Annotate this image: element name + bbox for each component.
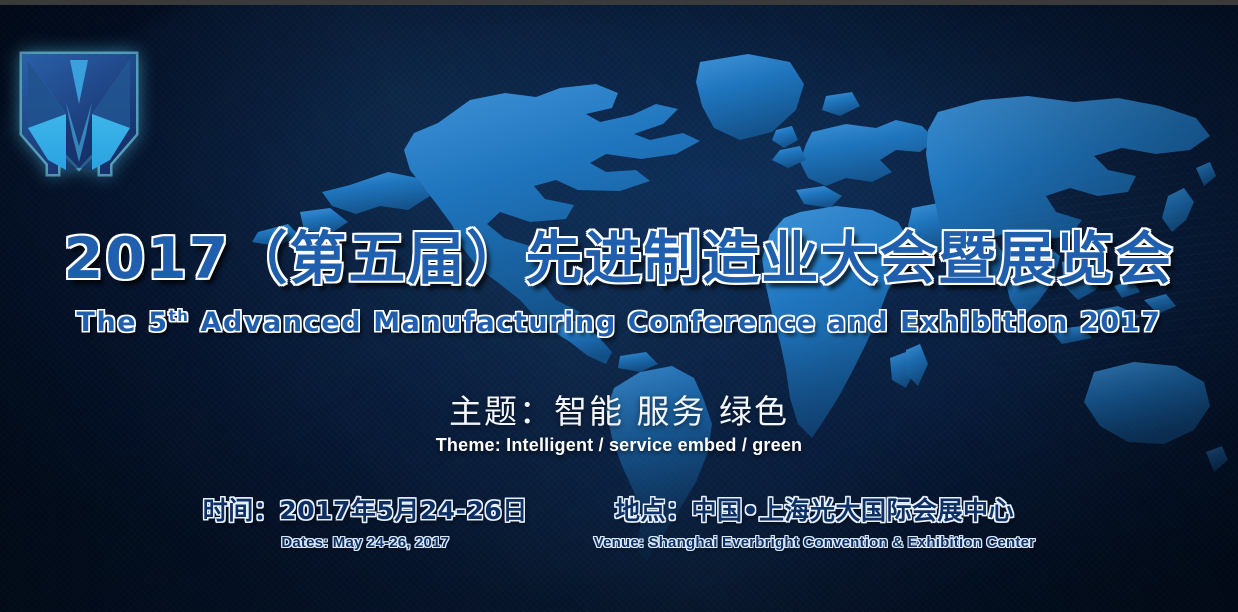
conference-banner: 2017（第五届）先进制造业大会暨展览会 The 5th Advanced Ma… (0, 0, 1238, 612)
date-label-chinese: 时间：2017年5月24-26日 (203, 497, 528, 526)
date-label-english: Dates: May 24-26, 2017 (203, 534, 528, 551)
venue-label-english: Venue: Shanghai Everbright Convention & … (594, 534, 1035, 551)
venue-label-chinese: 地点：中国•上海光大国际会展中心 (594, 497, 1035, 526)
theme-line-chinese: 主题：智能 服务 绿色 (0, 385, 1238, 433)
main-title-chinese: 2017（第五届）先进制造业大会暨展览会 (0, 231, 1238, 288)
main-title-english-rest: Advanced Manufacturing Conference and Ex… (189, 307, 1161, 338)
theme-line-english: Theme: Intelligent / service embed / gre… (0, 435, 1238, 456)
ordinal-suffix: th (169, 307, 190, 325)
main-title-english: The 5th Advanced Manufacturing Conferenc… (0, 308, 1238, 338)
banner-text-content: 2017（第五届）先进制造业大会暨展览会 The 5th Advanced Ma… (0, 0, 1238, 612)
date-block: 时间：2017年5月24-26日 Dates: May 24-26, 2017 (203, 497, 528, 551)
main-title-english-prefix: The 5 (76, 307, 168, 338)
top-edge-strip (0, 0, 1238, 5)
date-venue-row: 时间：2017年5月24-26日 Dates: May 24-26, 2017 … (0, 497, 1238, 551)
venue-block: 地点：中国•上海光大国际会展中心 Venue: Shanghai Everbri… (594, 497, 1035, 551)
